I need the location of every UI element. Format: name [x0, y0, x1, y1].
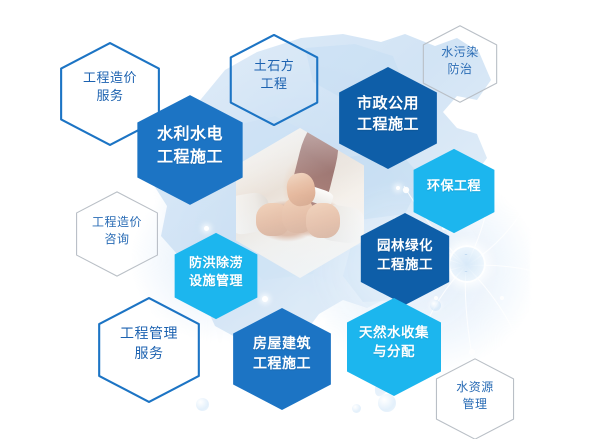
light-speck — [204, 226, 209, 231]
hexagon-water-resources-management[interactable]: 水资源 管理 — [434, 358, 516, 434]
hexagon-label: 水污染 防治 — [441, 44, 479, 78]
hexagon-label: 工程管理 服务 — [120, 325, 178, 365]
hexagon-label: 环保工程 — [427, 178, 481, 196]
hexagon-label: 工程造价 咨询 — [92, 214, 142, 248]
hexagon-label: 天然水收集 与分配 — [359, 324, 429, 362]
network-node-ring-icon — [448, 245, 486, 283]
hexagon-label: 房屋建筑 工程施工 — [253, 335, 311, 375]
capability-hexagon-infographic: 工程造价 服务土石方 工程水污染 防治水利水电 工程施工市政公用 工程施工环保工… — [0, 0, 600, 439]
hexagon-label: 土石方 工程 — [254, 58, 295, 95]
light-speck — [396, 186, 400, 190]
hexagon-label: 防洪除涝 设施管理 — [189, 255, 243, 292]
hexagon-water-conservancy-hydropower-construction[interactable]: 水利水电 工程施工 — [134, 94, 246, 198]
hexagon-label: 园林绿化 工程施工 — [377, 237, 433, 275]
hexagon-natural-water-collection-distribution[interactable]: 天然水收集 与分配 — [344, 297, 444, 389]
bubble-accent — [352, 404, 361, 413]
hexagon-housing-construction-works[interactable]: 房屋建筑 工程施工 — [230, 307, 334, 403]
hexagon-label: 市政公用 工程施工 — [357, 93, 419, 136]
hexagon-label: 水资源 管理 — [456, 379, 494, 413]
light-speck — [262, 296, 268, 302]
hexagon-engineering-management-service[interactable]: 工程管理 服务 — [96, 297, 202, 393]
hexagon-engineering-cost-consulting[interactable]: 工程造价 咨询 — [74, 191, 160, 271]
hexagon-label: 工程造价 服务 — [83, 70, 137, 107]
hexagon-landscaping-construction[interactable]: 园林绿化 工程施工 — [358, 212, 452, 300]
hexagon-label: 水利水电 工程施工 — [157, 123, 223, 168]
